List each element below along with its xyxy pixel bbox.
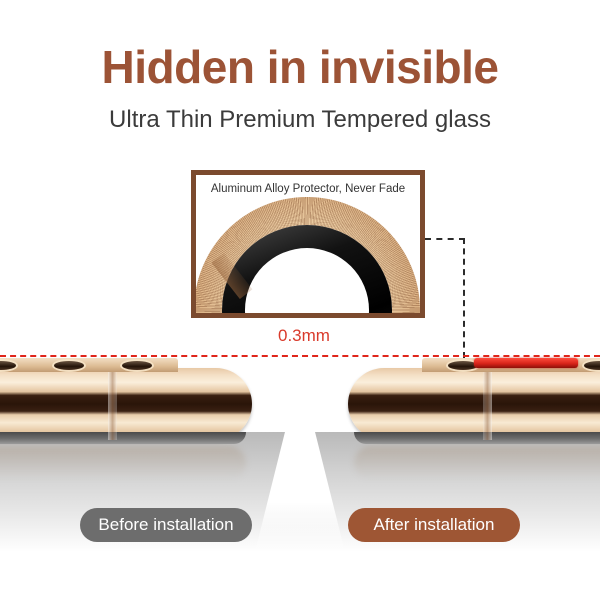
phone-before-installation — [0, 358, 256, 458]
camera-lens-icon — [54, 361, 84, 370]
phone-antenna-seam — [483, 368, 492, 440]
phone-after-installation — [344, 358, 600, 458]
thickness-reference-line — [0, 355, 600, 357]
page-title: Hidden in invisible — [0, 44, 600, 90]
phone-body — [0, 368, 252, 440]
after-installation-label: After installation — [348, 508, 520, 542]
camera-bump-plate — [0, 358, 178, 372]
phone-bottom-edge — [0, 432, 246, 444]
ring-gloss-highlight — [264, 247, 329, 301]
installed-protector-highlight — [474, 358, 578, 368]
phone-reflection — [0, 446, 246, 480]
protector-ring-icon — [194, 197, 420, 318]
camera-bump-plate — [422, 358, 600, 372]
phone-body — [348, 368, 600, 440]
camera-lens-icon — [584, 361, 600, 370]
thickness-label: 0.3mm — [278, 326, 330, 346]
camera-lens-icon — [0, 361, 16, 370]
product-marketing-image: Hidden in invisible Ultra Thin Premium T… — [0, 0, 600, 600]
magnified-cross-section-inset: Aluminum Alloy Protector, Never Fade — [191, 170, 425, 318]
phone-antenna-seam — [108, 368, 117, 440]
page-subtitle: Ultra Thin Premium Tempered glass — [0, 108, 600, 132]
callout-leader-horizontal — [425, 238, 465, 240]
callout-leader-vertical — [463, 238, 465, 358]
phone-bottom-edge — [354, 432, 600, 444]
inset-label: Aluminum Alloy Protector, Never Fade — [196, 183, 420, 195]
camera-lens-icon — [122, 361, 152, 370]
phone-reflection — [354, 446, 600, 480]
before-installation-label: Before installation — [80, 508, 252, 542]
ring-crop-mask — [191, 317, 425, 318]
